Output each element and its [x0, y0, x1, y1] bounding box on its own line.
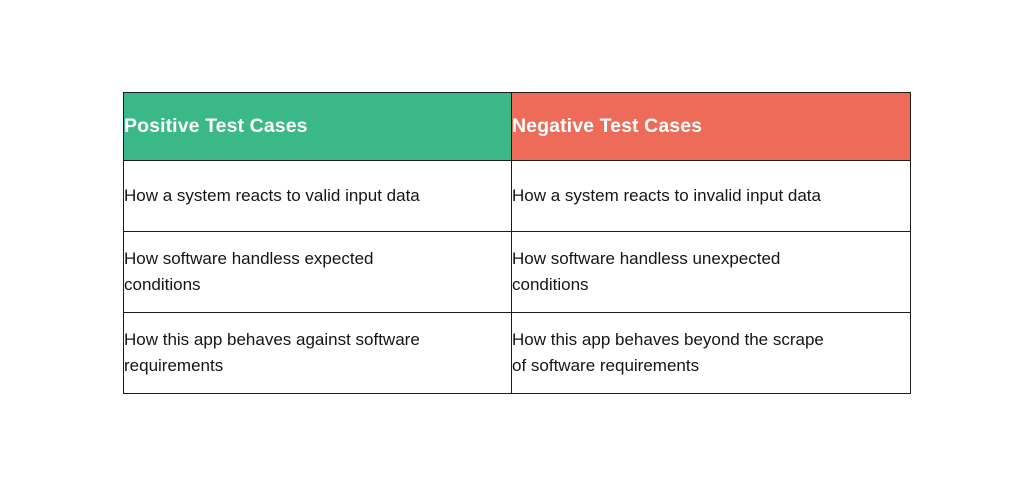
column-header-negative-test-cases: Negative Test Cases [512, 93, 911, 161]
cell-text: How software handless expected condition… [124, 246, 454, 298]
cell-positive-row-3: How this app behaves against software re… [124, 313, 512, 394]
table-body: How a system reacts to valid input data … [124, 161, 911, 394]
page-canvas: Positive Test Cases Negative Test Cases … [0, 0, 1034, 481]
table-header: Positive Test Cases Negative Test Cases [124, 93, 911, 161]
cell-text: How a system reacts to valid input data [124, 183, 469, 209]
cell-text: How a system reacts to invalid input dat… [512, 183, 857, 209]
cell-positive-row-1: How a system reacts to valid input data [124, 161, 512, 232]
cell-positive-row-2: How software handless expected condition… [124, 232, 512, 313]
column-header-positive-test-cases: Positive Test Cases [124, 93, 512, 161]
cell-text: How this app behaves against software re… [124, 327, 454, 379]
table-row: How this app behaves against software re… [124, 313, 911, 394]
table-row: How a system reacts to valid input data … [124, 161, 911, 232]
cell-negative-row-2: How software handless unexpected conditi… [512, 232, 911, 313]
table-header-row: Positive Test Cases Negative Test Cases [124, 93, 911, 161]
test-cases-comparison-table: Positive Test Cases Negative Test Cases … [123, 92, 911, 394]
cell-text: How software handless unexpected conditi… [512, 246, 842, 298]
table-row: How software handless expected condition… [124, 232, 911, 313]
cell-text: How this app behaves beyond the scrape o… [512, 327, 842, 379]
cell-negative-row-1: How a system reacts to invalid input dat… [512, 161, 911, 232]
cell-negative-row-3: How this app behaves beyond the scrape o… [512, 313, 911, 394]
